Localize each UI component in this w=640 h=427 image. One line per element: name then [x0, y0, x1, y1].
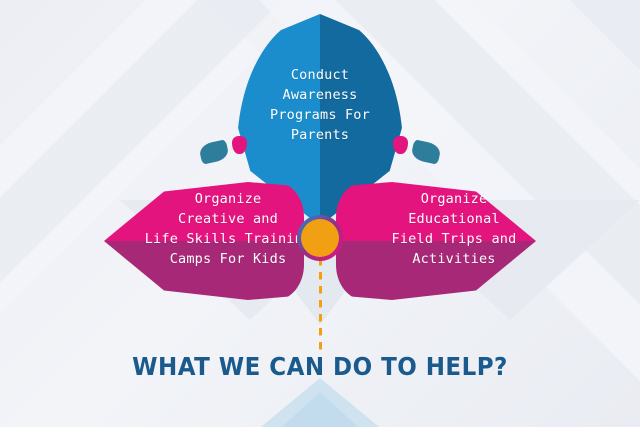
background-triangle-top-right [530, 0, 640, 110]
infographic-canvas: Conduct Awareness Programs For Parents O… [0, 0, 640, 427]
connector-dashed-line [319, 258, 322, 354]
petal-top-label: Conduct Awareness Programs For Parents [247, 66, 393, 146]
petal-left-label: Organize Creative and Life Skills Traini… [140, 190, 316, 270]
petal-right-label: Organize Educational Field Trips and Act… [366, 190, 542, 270]
hub-circle-icon[interactable] [301, 219, 339, 257]
background-chevron-bottom-inner [272, 392, 368, 427]
page-title: WHAT WE CAN DO TO HELP? [26, 352, 615, 381]
